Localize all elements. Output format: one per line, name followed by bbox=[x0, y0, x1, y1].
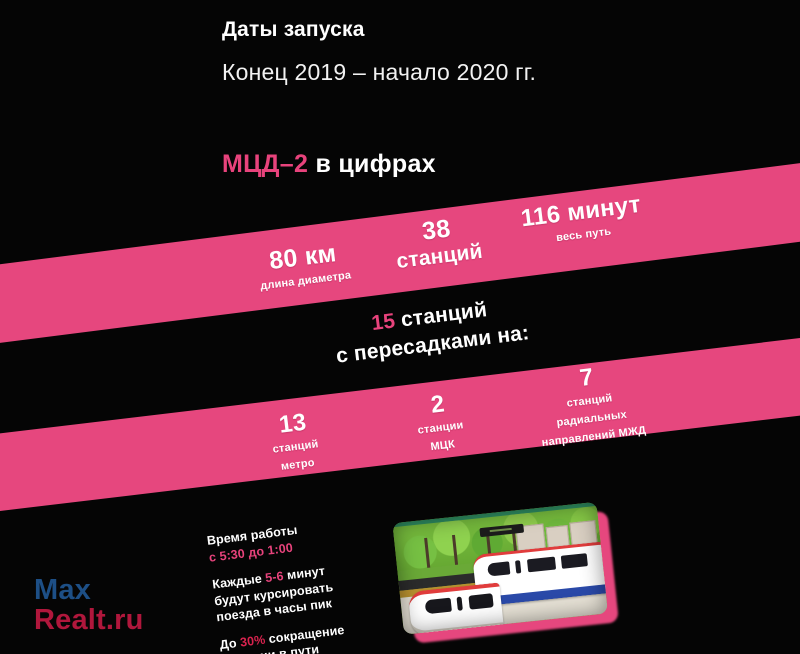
infographic-canvas: Даты запуска Конец 2019 – начало 2020 гг… bbox=[0, 0, 800, 654]
launch-dates-value: Конец 2019 – начало 2020 гг. bbox=[222, 59, 782, 86]
section-title-rest: в цифрах bbox=[308, 150, 436, 178]
card-vignette bbox=[392, 502, 608, 635]
train-illustration bbox=[392, 502, 608, 635]
header-block: Даты запуска Конец 2019 – начало 2020 гг… bbox=[222, 18, 782, 86]
train-photo-card bbox=[392, 501, 613, 640]
section-title: МЦД–2 в цифрах bbox=[222, 150, 436, 179]
transfer-count: 15 bbox=[370, 309, 396, 335]
fact-frequency-accent: 5-6 bbox=[264, 569, 284, 585]
section-title-accent: МЦД–2 bbox=[222, 150, 308, 178]
fact-saving-pre: До bbox=[219, 635, 241, 651]
page-title: Даты запуска bbox=[222, 18, 782, 42]
watermark-line-2: Realt.ru bbox=[34, 605, 144, 635]
watermark-line-1: Max bbox=[34, 575, 144, 605]
watermark-logo: Max Realt.ru bbox=[34, 575, 144, 636]
fact-saving-accent: 30% bbox=[239, 632, 266, 649]
fact-frequency: Каждые 5-6 минут будут курсировать поезд… bbox=[211, 552, 416, 626]
facts-block: Время работы с 5:30 до 1:00 Каждые 5-6 м… bbox=[206, 509, 425, 654]
